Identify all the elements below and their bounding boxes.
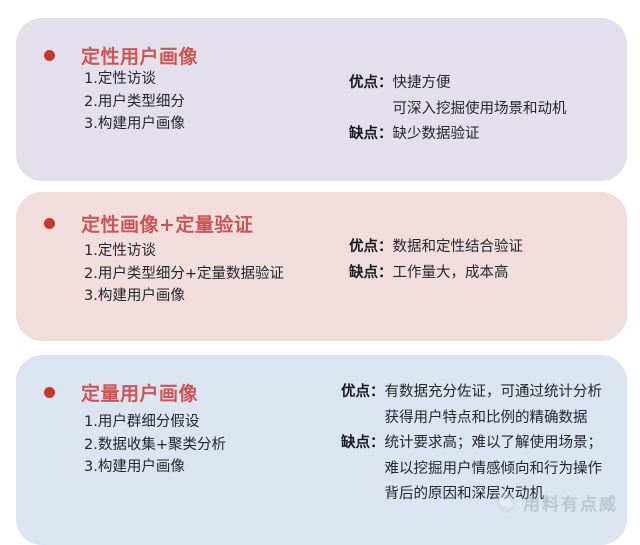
cons-line: 背后的原因和深层次动机 — [385, 487, 603, 502]
step-list: 1.定性访谈 2.用户类型细分+定量数据验证 3.构建用户画像 — [84, 244, 284, 304]
cons-row: 缺点： 工作量大，成本高 — [349, 266, 523, 281]
pros-cons-block: 优点： 有数据充分佐证，可通过统计分析 获得用户特点和比例的精确数据 缺点： 统… — [341, 385, 602, 502]
list-item: 1.定性访谈 — [84, 72, 185, 87]
pros-label: 优点： — [349, 76, 393, 91]
card-title: 定性画像+定量验证 — [81, 210, 253, 237]
list-item: 1.用户群细分假设 — [84, 415, 226, 430]
card-qualitative-persona: 定性用户画像 1.定性访谈 2.用户类型细分 3.构建用户画像 优点： 快捷方便… — [16, 18, 627, 181]
cons-line: 难以挖掘用户情感倾向和行为操作 — [385, 462, 603, 477]
bullet-dot-icon — [44, 50, 55, 61]
cons-line: 统计要求高；难以了解使用场景； — [385, 436, 603, 451]
pros-line: 有数据充分佐证，可通过统计分析 — [385, 385, 603, 400]
pros-label: 优点： — [341, 385, 385, 400]
card-title: 定性用户画像 — [81, 42, 198, 69]
pros-row: 优点： 有数据充分佐证，可通过统计分析 获得用户特点和比例的精确数据 — [341, 385, 602, 425]
bullet-dot-icon — [44, 387, 55, 398]
pros-lines: 数据和定性结合验证 — [393, 240, 524, 255]
card-header: 定性画像+定量验证 — [44, 210, 253, 237]
list-item: 3.构建用户画像 — [84, 117, 185, 132]
cons-label: 缺点： — [349, 266, 393, 281]
pros-lines: 有数据充分佐证，可通过统计分析 获得用户特点和比例的精确数据 — [385, 385, 603, 425]
cons-lines: 统计要求高；难以了解使用场景； 难以挖掘用户情感倾向和行为操作 背后的原因和深层… — [385, 436, 603, 502]
cons-label: 缺点： — [341, 436, 385, 451]
pros-line: 可深入挖掘使用场景和动机 — [393, 102, 567, 117]
pros-row: 优点： 数据和定性结合验证 — [349, 240, 523, 255]
cons-lines: 工作量大，成本高 — [393, 266, 524, 281]
list-item: 2.用户类型细分+定量数据验证 — [84, 267, 284, 282]
step-list: 1.用户群细分假设 2.数据收集+聚类分析 3.构建用户画像 — [84, 415, 226, 475]
pros-line: 数据和定性结合验证 — [393, 240, 524, 255]
pros-cons-block: 优点： 快捷方便 可深入挖掘使用场景和动机 缺点： 缺少数据验证 — [349, 76, 567, 142]
pros-cons-block: 优点： 数据和定性结合验证 缺点： 工作量大，成本高 — [349, 240, 523, 280]
card-quantitative-persona: 定量用户画像 1.用户群细分假设 2.数据收集+聚类分析 3.构建用户画像 优点… — [16, 355, 627, 545]
pros-lines: 快捷方便 可深入挖掘使用场景和动机 — [393, 76, 567, 116]
cons-line: 工作量大，成本高 — [393, 266, 524, 281]
cons-row: 缺点： 统计要求高；难以了解使用场景； 难以挖掘用户情感倾向和行为操作 背后的原… — [341, 436, 602, 502]
bullet-dot-icon — [44, 218, 55, 229]
cons-row: 缺点： 缺少数据验证 — [349, 127, 567, 142]
list-item: 1.定性访谈 — [84, 244, 284, 259]
step-list: 1.定性访谈 2.用户类型细分 3.构建用户画像 — [84, 72, 185, 132]
pros-line: 获得用户特点和比例的精确数据 — [385, 411, 603, 426]
list-item: 3.构建用户画像 — [84, 460, 226, 475]
cons-label: 缺点： — [349, 127, 393, 142]
card-qualitative-plus-quantitative: 定性画像+定量验证 1.定性访谈 2.用户类型细分+定量数据验证 3.构建用户画… — [16, 192, 627, 341]
pros-label: 优点： — [349, 240, 393, 255]
pros-line: 快捷方便 — [393, 76, 567, 91]
card-title: 定量用户画像 — [81, 379, 198, 406]
pros-row: 优点： 快捷方便 可深入挖掘使用场景和动机 — [349, 76, 567, 116]
list-item: 2.数据收集+聚类分析 — [84, 438, 226, 453]
card-header: 定性用户画像 — [44, 42, 198, 69]
cons-lines: 缺少数据验证 — [393, 127, 567, 142]
slide-canvas: 定性用户画像 1.定性访谈 2.用户类型细分 3.构建用户画像 优点： 快捷方便… — [0, 0, 640, 537]
list-item: 3.构建用户画像 — [84, 289, 284, 304]
card-header: 定量用户画像 — [44, 379, 198, 406]
list-item: 2.用户类型细分 — [84, 95, 185, 110]
cons-line: 缺少数据验证 — [393, 127, 567, 142]
